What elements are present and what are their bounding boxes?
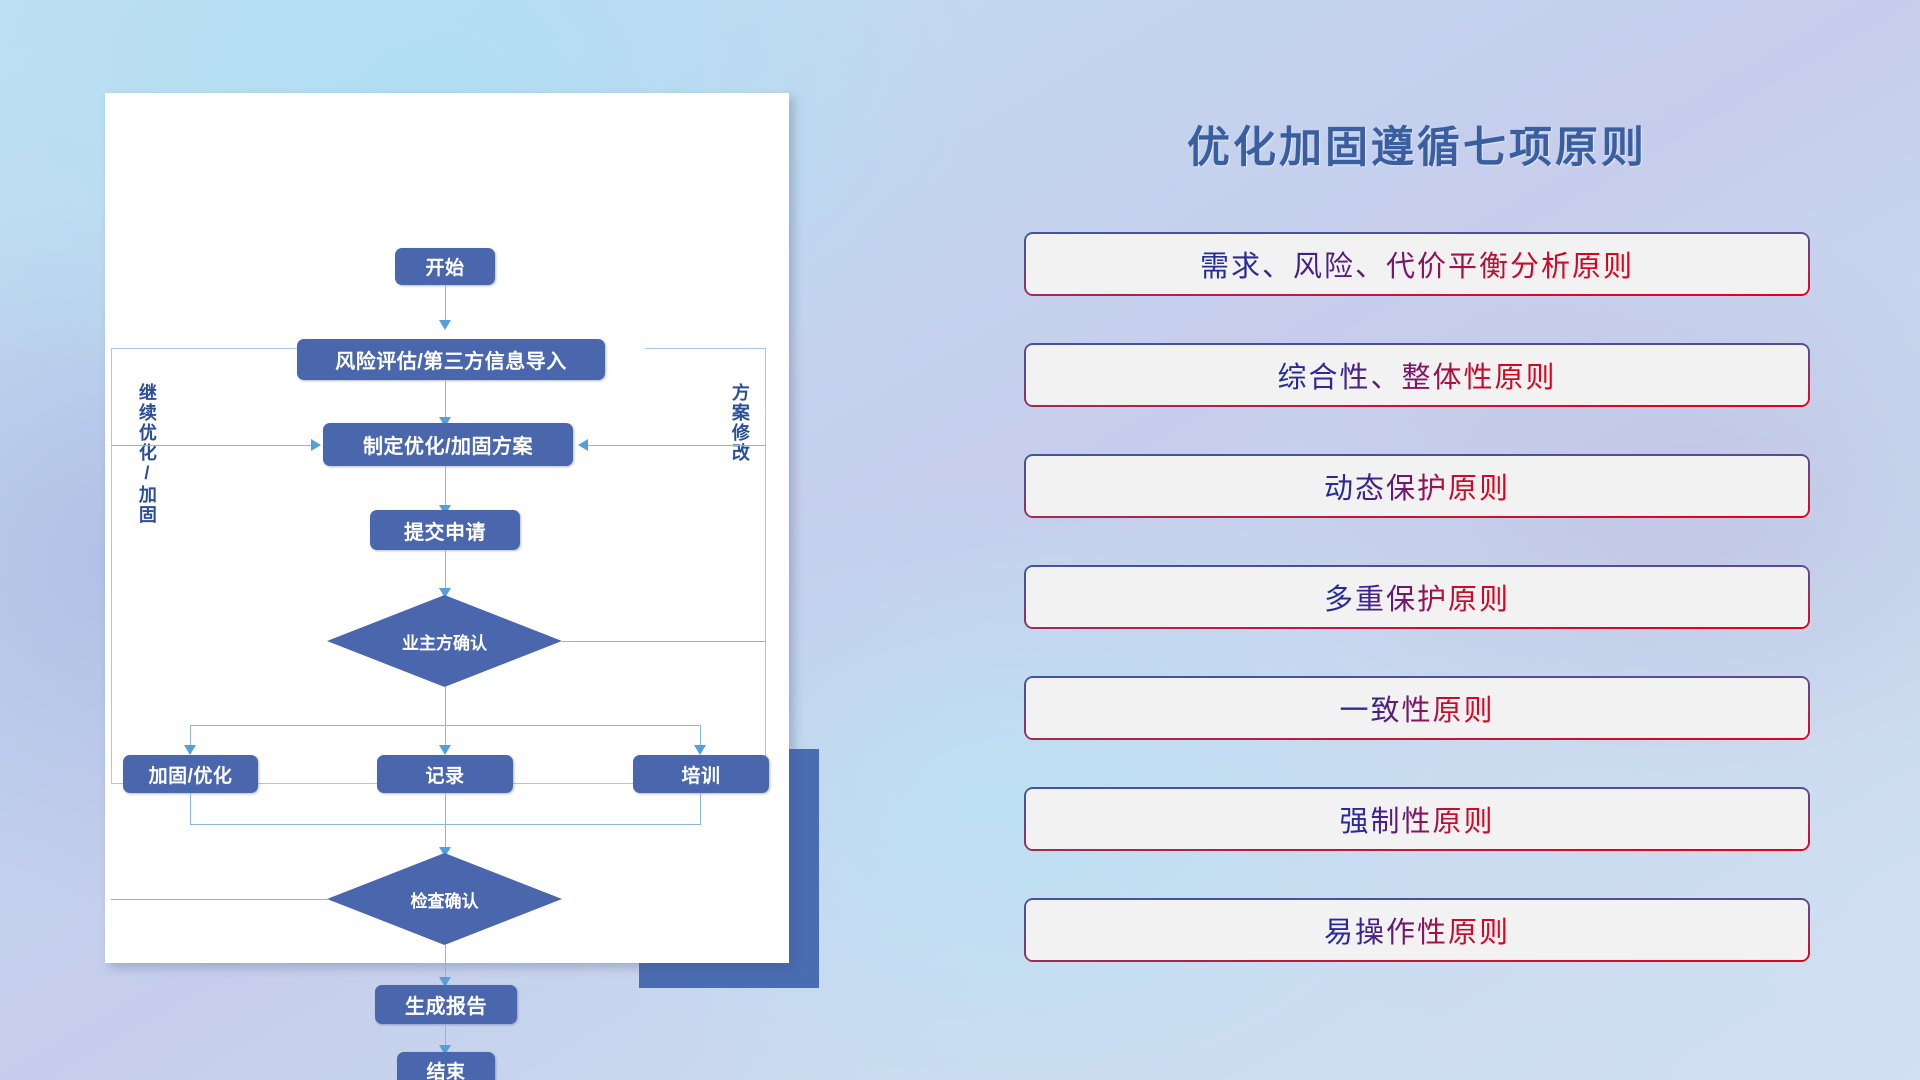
arrowhead-left-loop-into-plan — [311, 439, 321, 451]
feedback-loop-frame-top-left — [111, 348, 328, 349]
flow-node-reinforce[interactable]: 加固/优化 — [123, 755, 258, 793]
principle-card-6[interactable]: 强制性原则 — [1024, 787, 1810, 851]
principle-label-2: 综合性、整体性原则 — [1277, 354, 1556, 396]
feedback-loop-frame-top-right — [645, 348, 766, 349]
principle-label-7: 易操作性原则 — [1324, 909, 1510, 951]
flow-node-start[interactable]: 开始 — [395, 248, 495, 285]
principle-card-2[interactable]: 综合性、整体性原则 — [1024, 343, 1810, 407]
connector-left-loop-into-plan — [111, 445, 316, 446]
arrowhead-start-to-assess — [439, 320, 451, 330]
arrowhead-fanout-to-record — [439, 745, 451, 755]
connector-training-to-fanin — [700, 793, 701, 825]
connector-record-to-fanin — [445, 793, 446, 825]
principles-card-list: 需求、风险、代价平衡分析原则 综合性、整体性原则 动态保护原则 多重保护原则 一… — [1024, 232, 1810, 962]
connector-owner-to-fanout — [445, 687, 446, 726]
principle-label-3: 动态保护原则 — [1324, 465, 1510, 507]
flow-node-record[interactable]: 记录 — [377, 755, 513, 793]
flow-decision-inspect-confirm[interactable]: 检查确认 — [327, 853, 562, 945]
principle-card-7[interactable]: 易操作性原则 — [1024, 898, 1810, 962]
connector-right-loop-into-plan — [588, 445, 766, 446]
principle-label-4: 多重保护原则 — [1324, 576, 1510, 618]
principle-card-3[interactable]: 动态保护原则 — [1024, 454, 1810, 518]
flow-node-submit[interactable]: 提交申请 — [370, 510, 520, 550]
principle-card-1[interactable]: 需求、风险、代价平衡分析原则 — [1024, 232, 1810, 296]
slide-canvas: 继续优化/加固 方案修改 开始 风险评估/第三方信息导入 制定优化/加固方案 提… — [0, 0, 1920, 1080]
loop-label-left: 继续优化/加固 — [137, 383, 156, 525]
flow-node-training[interactable]: 培训 — [633, 755, 769, 793]
flow-node-report[interactable]: 生成报告 — [375, 985, 517, 1024]
arrowhead-fanout-to-training — [694, 745, 706, 755]
flow-node-assessment[interactable]: 风险评估/第三方信息导入 — [297, 339, 605, 380]
principle-label-6: 强制性原则 — [1339, 798, 1494, 840]
principle-card-4[interactable]: 多重保护原则 — [1024, 565, 1810, 629]
arrowhead-fanout-to-reinforce — [184, 745, 196, 755]
principles-title: 优化加固遵循七项原则 — [1024, 113, 1810, 175]
arrowhead-right-loop-into-plan — [578, 439, 588, 451]
flow-node-end[interactable]: 结束 — [397, 1052, 495, 1080]
connector-reinforce-to-fanin — [190, 793, 191, 825]
flow-node-plan[interactable]: 制定优化/加固方案 — [323, 423, 573, 466]
flowchart-panel: 继续优化/加固 方案修改 开始 风险评估/第三方信息导入 制定优化/加固方案 提… — [105, 93, 789, 963]
connector-inspect-to-left-loop — [111, 899, 329, 900]
loop-label-right: 方案修改 — [730, 383, 749, 463]
principle-label-1: 需求、风险、代价平衡分析原则 — [1200, 243, 1634, 285]
connector-owner-to-right-loop — [562, 641, 766, 642]
principle-card-5[interactable]: 一致性原则 — [1024, 676, 1810, 740]
principle-label-5: 一致性原则 — [1339, 687, 1494, 729]
feedback-loop-frame — [111, 348, 766, 784]
